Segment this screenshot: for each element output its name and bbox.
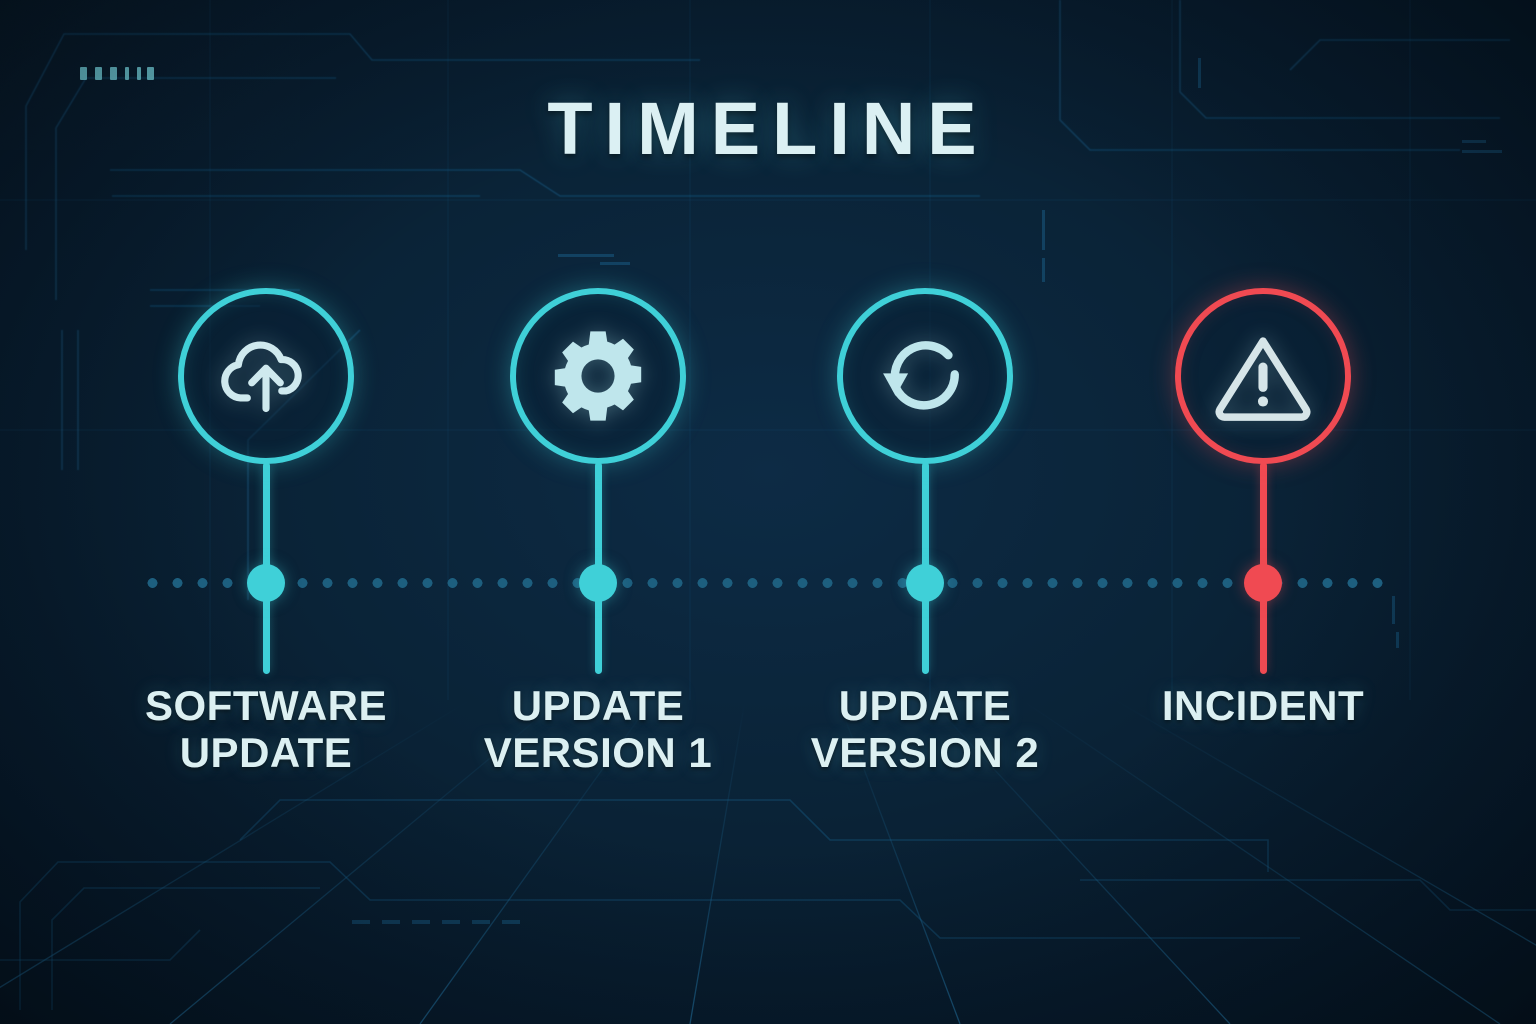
milestone-label-update-version-1: UPDATE VERSION 1	[428, 682, 768, 776]
infographic-canvas: TIMELINE SOFTWARE UPDATE UPDATE VERSION …	[0, 0, 1536, 1024]
cloud-upload-icon	[214, 324, 318, 428]
gear-icon	[547, 325, 649, 427]
milestone-ring-incident[interactable]	[1175, 288, 1351, 464]
milestone-label-software-update: SOFTWARE UPDATE	[96, 682, 436, 776]
milestone-ring-update-version-2[interactable]	[837, 288, 1013, 464]
sync-refresh-icon	[873, 324, 977, 428]
milestone-dot-incident[interactable]	[1244, 564, 1282, 602]
milestone-ring-update-version-1[interactable]	[510, 288, 686, 464]
milestone-dot-update-version-1[interactable]	[579, 564, 617, 602]
milestone-dot-software-update[interactable]	[247, 564, 285, 602]
warning-triangle-icon	[1209, 324, 1317, 428]
milestone-dot-update-version-2[interactable]	[906, 564, 944, 602]
milestone-ring-software-update[interactable]	[178, 288, 354, 464]
timeline-milestones: SOFTWARE UPDATE UPDATE VERSION 1 UPDATE …	[0, 0, 1536, 1024]
milestone-label-incident: INCIDENT	[1093, 682, 1433, 729]
milestone-label-update-version-2: UPDATE VERSION 2	[755, 682, 1095, 776]
